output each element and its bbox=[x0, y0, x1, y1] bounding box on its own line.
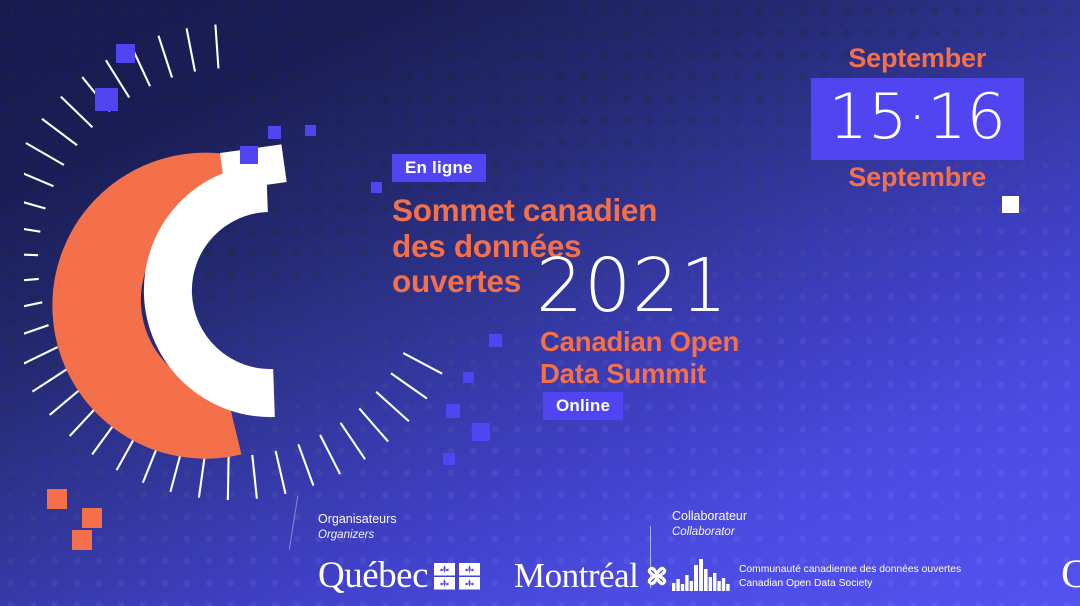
title-fr-line-1: Sommet canadien bbox=[392, 193, 872, 229]
poster-canvas: En ligne Sommet canadien des données ouv… bbox=[0, 0, 1080, 606]
c-arc-white-ring bbox=[168, 188, 274, 393]
year-2021: 2021 bbox=[536, 249, 728, 323]
badge-online[interactable]: Online bbox=[543, 392, 623, 420]
quebec-logo-text: Québec bbox=[318, 557, 428, 594]
date-days: 15·16 bbox=[811, 78, 1025, 160]
decor-square-white-3 bbox=[1002, 196, 1019, 213]
decor-square-indigo-2 bbox=[95, 88, 118, 111]
canadian-open-data-society-logo: Communauté canadienne des données ouvert… bbox=[672, 557, 961, 591]
decor-square-indigo-9 bbox=[446, 404, 460, 418]
decor-square-indigo-4 bbox=[268, 126, 281, 139]
collaborator-label-en: Collaborator bbox=[672, 525, 1080, 540]
decor-square-indigo-7 bbox=[489, 334, 502, 347]
montreal-logo-text: Montréal bbox=[514, 558, 638, 593]
badge-en-ligne[interactable]: En ligne bbox=[392, 154, 486, 182]
decor-square-indigo-8 bbox=[463, 372, 474, 383]
organizers-logos: Québec bbox=[318, 557, 673, 594]
decor-square-indigo-6 bbox=[371, 182, 382, 193]
cods-text-block: Communauté canadienne des données ouvert… bbox=[739, 563, 961, 591]
cods-text-fr: Communauté canadienne des données ouvert… bbox=[739, 563, 961, 577]
date-month-french: Septembre bbox=[811, 163, 1025, 193]
collaborator-group: Collaborateur Collaborator bbox=[672, 509, 1080, 594]
footer: Organisateurs Organizers Québec bbox=[0, 490, 1080, 606]
title-en-line-2: Data Summit bbox=[540, 358, 739, 390]
cods-text-en: Canadian Open Data Society bbox=[739, 577, 961, 591]
organizers-label-en: Organizers bbox=[318, 528, 673, 543]
montreal-flower-icon bbox=[641, 560, 673, 592]
quebec-flag-icon bbox=[434, 561, 482, 591]
decor-square-indigo-11 bbox=[443, 453, 455, 465]
badge-online-wrap: Online bbox=[543, 392, 623, 420]
organizers-group: Organisateurs Organizers Québec bbox=[318, 512, 673, 594]
decor-square-indigo-5 bbox=[305, 125, 316, 136]
date-block: September 15·16 Septembre bbox=[811, 44, 1025, 192]
canada-wordmark-text: Canada bbox=[1061, 551, 1080, 596]
decor-square-indigo-10 bbox=[472, 423, 490, 441]
montreal-logo: Montréal bbox=[514, 558, 673, 593]
decor-square-indigo-3 bbox=[240, 146, 258, 164]
footer-accent-line bbox=[289, 496, 298, 549]
date-month-english: September bbox=[811, 44, 1025, 74]
quebec-logo: Québec bbox=[318, 557, 482, 594]
collaborator-label-fr: Collaborateur bbox=[672, 509, 1080, 525]
canada-wordmark: Canada bbox=[1061, 554, 1080, 594]
title-english: Canadian Open Data Summit bbox=[540, 326, 739, 389]
organizers-label-fr: Organisateurs bbox=[318, 512, 673, 528]
city-skyline-icon bbox=[672, 557, 730, 591]
title-en-line-1: Canadian Open bbox=[540, 326, 739, 358]
collaborator-logos: Communauté canadienne des données ouvert… bbox=[672, 554, 1080, 594]
decor-square-indigo-1 bbox=[116, 44, 135, 63]
